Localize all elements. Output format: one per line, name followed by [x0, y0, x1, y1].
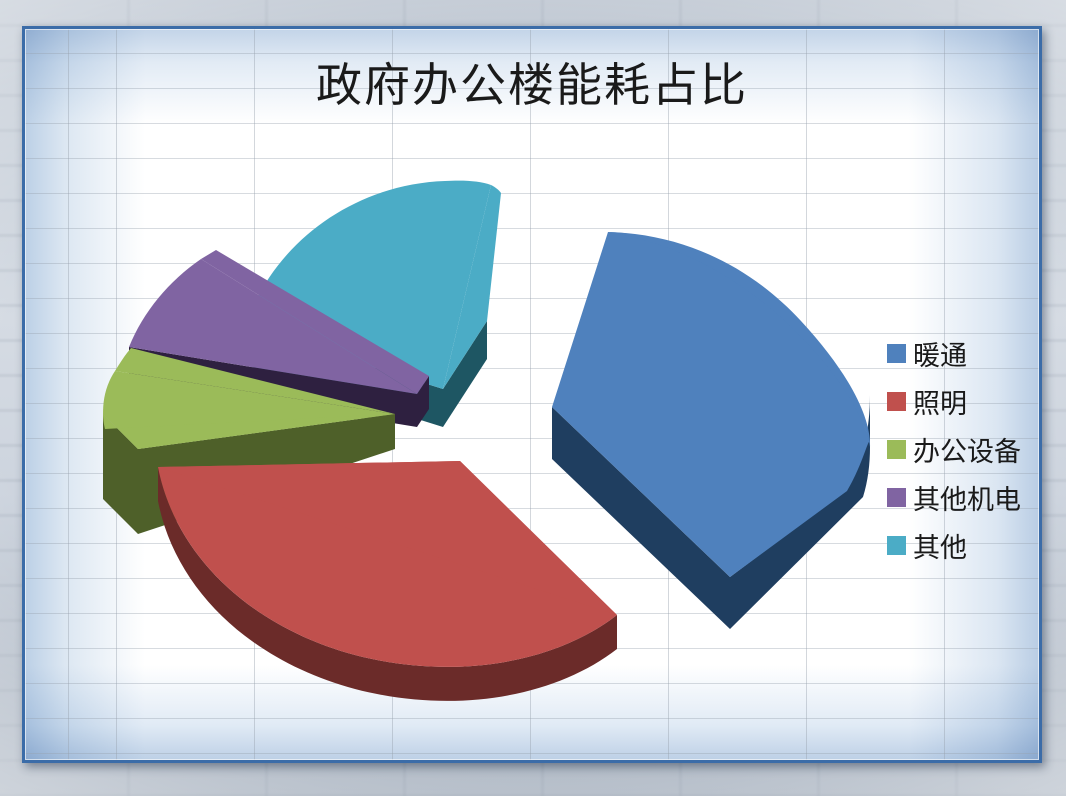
legend-swatch-icon [887, 536, 906, 555]
legend-item-other-me[interactable]: 其他机电 [887, 473, 1037, 521]
legend-swatch-icon [887, 440, 906, 459]
pie-slice-lighting[interactable] [158, 461, 617, 701]
legend-label: 照明 [913, 382, 967, 421]
presentation-slide: 政府办公楼能耗占比 [22, 26, 1042, 763]
legend-item-hvac[interactable]: 暖通 [887, 329, 1037, 377]
legend-swatch-icon [887, 488, 906, 507]
legend-label: 其他机电 [913, 478, 1021, 517]
legend-swatch-icon [887, 392, 906, 411]
legend-label: 办公设备 [913, 430, 1021, 469]
legend-label: 暖通 [913, 334, 967, 373]
legend-label: 其他 [913, 526, 967, 565]
legend-swatch-icon [887, 344, 906, 363]
legend-item-lighting[interactable]: 照明 [887, 377, 1037, 425]
slide-backdrop: 政府办公楼能耗占比 [0, 0, 1066, 796]
legend-item-office-equipment[interactable]: 办公设备 [887, 425, 1037, 473]
legend-item-other[interactable]: 其他 [887, 521, 1037, 569]
pie-slice-hvac[interactable] [552, 232, 870, 629]
chart-legend: 暖通 照明 办公设备 其他机电 其他 [887, 329, 1037, 569]
